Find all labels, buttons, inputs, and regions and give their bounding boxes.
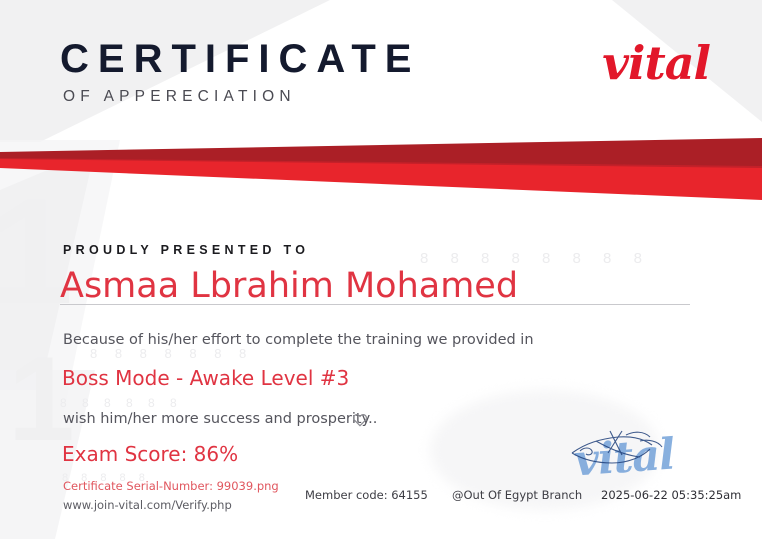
certificate-document: 1 1 8 8 8 8 8 8 8 8 8 8 8 8 8 8 8 8 8 8 … [0, 0, 762, 539]
verify-url[interactable]: www.join-vital.com/Verify.php [63, 498, 232, 512]
handwritten-signature-icon [566, 421, 726, 489]
signature-stamp: vital [566, 421, 726, 489]
page-subtitle: OF APPERECIATION [63, 88, 296, 106]
heart-icon [352, 412, 368, 428]
page-title: CERTIFICATE [60, 37, 420, 82]
certificate-header: CERTIFICATE OF APPERECIATION vital [0, 0, 762, 140]
recipient-name: Asmaa Lbrahim Mohamed [60, 266, 518, 306]
certificate-serial-number: Certificate Serial-Number: 99039.png [63, 479, 279, 493]
exam-score: Exam Score: 86% [62, 442, 238, 466]
issued-timestamp: 2025-06-22 05:35:25am [601, 488, 741, 502]
wish-text: wish him/her more success and prosperity… [63, 411, 377, 427]
course-name: Boss Mode - Awake Level #3 [62, 366, 349, 390]
reason-text: Because of his/her effort to complete th… [63, 332, 534, 348]
vital-logo: vital [602, 36, 710, 90]
recipient-name-underline [60, 304, 690, 305]
branch-name: @Out Of Egypt Branch [452, 488, 582, 502]
watermark-glyph-row: 8 8 8 8 8 8 [60, 395, 183, 412]
member-code: Member code: 64155 [305, 488, 428, 502]
presented-to-label: PROUDLY PRESENTED TO [63, 243, 309, 257]
watermark-glyph-row: 8 8 8 8 8 8 8 8 [420, 250, 651, 267]
